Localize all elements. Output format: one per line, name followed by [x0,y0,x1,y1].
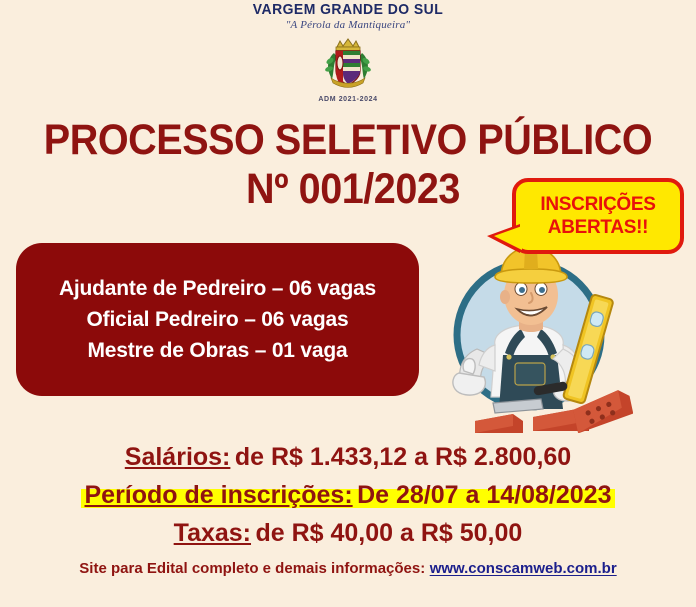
city-tagline: "A Pérola da Mantiqueira" [0,19,696,31]
info-row-salarios: Salários: de R$ 1.433,12 a R$ 2.800,60 [0,440,696,478]
badge-tail [494,226,522,250]
list-item: Mestre de Obras – 01 vaga [88,335,348,366]
administration-years: ADM 2021-2024 [0,96,696,103]
info-label: Período de inscrições: [85,481,353,509]
header: VARGEM GRANDE DO SUL "A Pérola da Mantiq… [0,2,696,103]
vacancies-box: Ajudante de Pedreiro – 06 vagas Oficial … [16,243,419,396]
footer-url-link[interactable]: www.conscamweb.com.br [430,560,617,577]
info-value: de R$ 1.433,12 a R$ 2.800,60 [235,443,571,471]
badge-line-1: INSCRIÇÕES [540,193,655,216]
list-item: Ajudante de Pedreiro – 06 vagas [59,273,376,304]
info-section: Salários: de R$ 1.433,12 a R$ 2.800,60 P… [0,440,696,554]
list-item: Oficial Pedreiro – 06 vagas [87,304,349,335]
city-name: VARGEM GRANDE DO SUL [24,2,671,18]
info-value: De 28/07 a 14/08/2023 [357,481,611,509]
construction-worker-icon [437,237,633,433]
info-label: Salários: [125,443,231,471]
info-row-periodo: Período de inscrições: De 28/07 a 14/08/… [0,478,696,516]
status-badge: INSCRIÇÕES ABERTAS!! [512,178,684,254]
title-line-1: PROCESSO SELETIVO PÚBLICO [28,116,668,164]
highlight-wrapper: Período de inscrições: De 28/07 a 14/08/… [81,489,616,508]
coat-of-arms-icon [317,33,379,95]
footer-text: Site para Edital completo e demais infor… [79,560,425,577]
footer: Site para Edital completo e demais infor… [0,560,696,578]
badge-line-2: ABERTAS!! [548,216,648,239]
info-label: Taxas: [174,519,251,547]
info-value: de R$ 40,00 a R$ 50,00 [255,519,522,547]
info-row-taxas: Taxas: de R$ 40,00 a R$ 50,00 [0,516,696,554]
poster-root: VARGEM GRANDE DO SUL "A Pérola da Mantiq… [0,0,696,607]
